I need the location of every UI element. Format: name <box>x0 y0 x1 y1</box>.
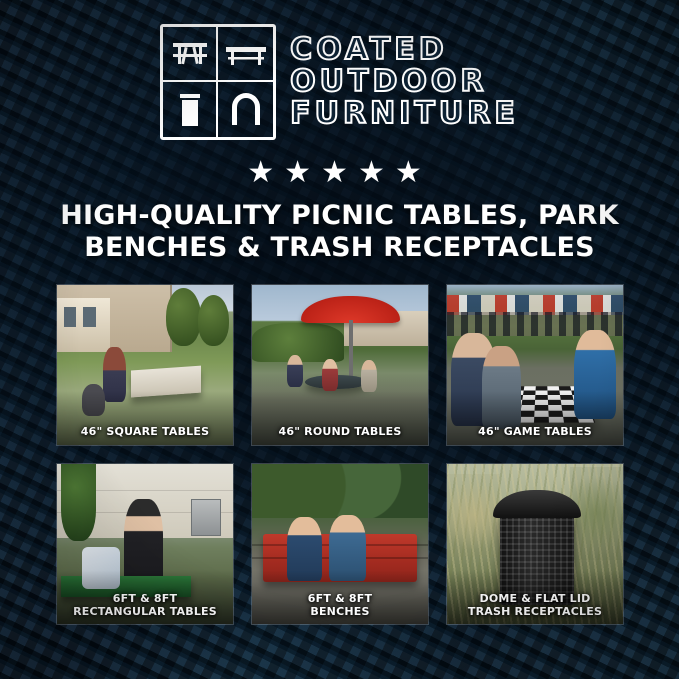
banner-content: COATED OUTDOOR FURNITURE ★★★★★ HIGH-QUAL… <box>0 0 679 679</box>
logo-line-3: FURNITURE <box>290 99 519 129</box>
star-icon-5: ★ <box>395 158 432 188</box>
arch-bench-icon <box>218 82 273 137</box>
advertisement-banner: COATED OUTDOOR FURNITURE ★★★★★ HIGH-QUAL… <box>0 0 679 679</box>
tile-game-tables[interactable]: 46" GAME TABLES <box>446 284 624 446</box>
headline: HIGH-QUALITY PICNIC TABLES, PARK BENCHES… <box>0 200 679 263</box>
star-rating: ★★★★★ <box>0 158 679 188</box>
tile-caption-square-tables: 46" SQUARE TABLES <box>57 426 233 439</box>
bench-icon <box>218 27 273 82</box>
tile-caption-rectangular-tables: 6FT & 8FT RECTANGULAR TABLES <box>57 593 233 619</box>
tile-round-tables[interactable]: 46" ROUND TABLES <box>251 284 429 446</box>
tile-caption-rectangular-tables-line-2: RECTANGULAR TABLES <box>57 606 233 619</box>
tile-caption-trash-receptacles-line-2: TRASH RECEPTACLES <box>447 606 623 619</box>
star-icon-1: ★ <box>247 158 284 188</box>
tile-benches[interactable]: 6FT & 8FT BENCHES <box>251 463 429 625</box>
tile-caption-benches: 6FT & 8FT BENCHES <box>252 593 428 619</box>
tile-square-tables[interactable]: 46" SQUARE TABLES <box>56 284 234 446</box>
tile-caption-game-tables: 46" GAME TABLES <box>447 426 623 439</box>
tile-trash-receptacles[interactable]: DOME & FLAT LID TRASH RECEPTACLES <box>446 463 624 625</box>
logo-mark <box>160 24 276 140</box>
star-icon-3: ★ <box>321 158 358 188</box>
brand-logo: COATED OUTDOOR FURNITURE <box>0 24 679 140</box>
trash-receptacle-icon <box>163 82 218 137</box>
tile-caption-benches-line-2: BENCHES <box>252 606 428 619</box>
tile-caption-round-tables: 46" ROUND TABLES <box>252 426 428 439</box>
logo-line-2: OUTDOOR <box>290 67 519 97</box>
star-icon-2: ★ <box>284 158 321 188</box>
product-photo-grid: 46" SQUARE TABLES 46" ROUND TABLES <box>56 284 624 625</box>
tile-caption-trash-receptacles: DOME & FLAT LID TRASH RECEPTACLES <box>447 593 623 619</box>
star-icon-4: ★ <box>358 158 395 188</box>
logo-line-1: COATED <box>290 35 519 65</box>
headline-line-1: HIGH-QUALITY PICNIC TABLES, PARK <box>60 200 619 231</box>
logo-wordmark: COATED OUTDOOR FURNITURE <box>290 35 519 129</box>
tile-rectangular-tables[interactable]: 6FT & 8FT RECTANGULAR TABLES <box>56 463 234 625</box>
picnic-table-icon <box>163 27 218 82</box>
headline-line-2: BENCHES & TRASH RECEPTACLES <box>0 232 679 264</box>
